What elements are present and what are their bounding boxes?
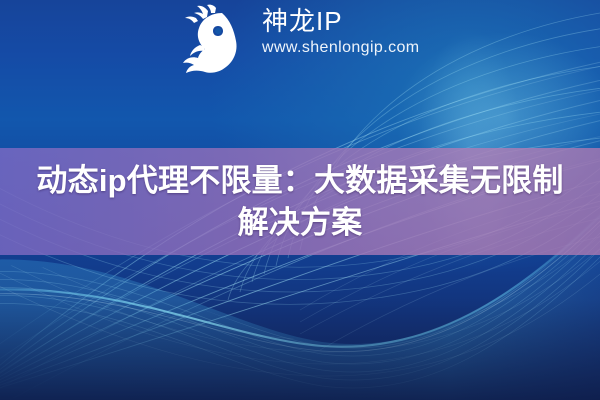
- page-title: 动态ip代理不限量：大数据采集无限制解决方案: [22, 160, 578, 244]
- brand-lockup: 神龙IP www.shenlongip.com: [178, 4, 420, 76]
- dragon-head-icon: [178, 4, 252, 76]
- title-band: 动态ip代理不限量：大数据采集无限制解决方案: [0, 148, 600, 255]
- brand-url: www.shenlongip.com: [262, 37, 420, 59]
- promotional-banner: 神龙IP www.shenlongip.com 动态ip代理不限量：大数据采集无…: [0, 0, 600, 400]
- brand-name: 神龙IP: [262, 6, 420, 36]
